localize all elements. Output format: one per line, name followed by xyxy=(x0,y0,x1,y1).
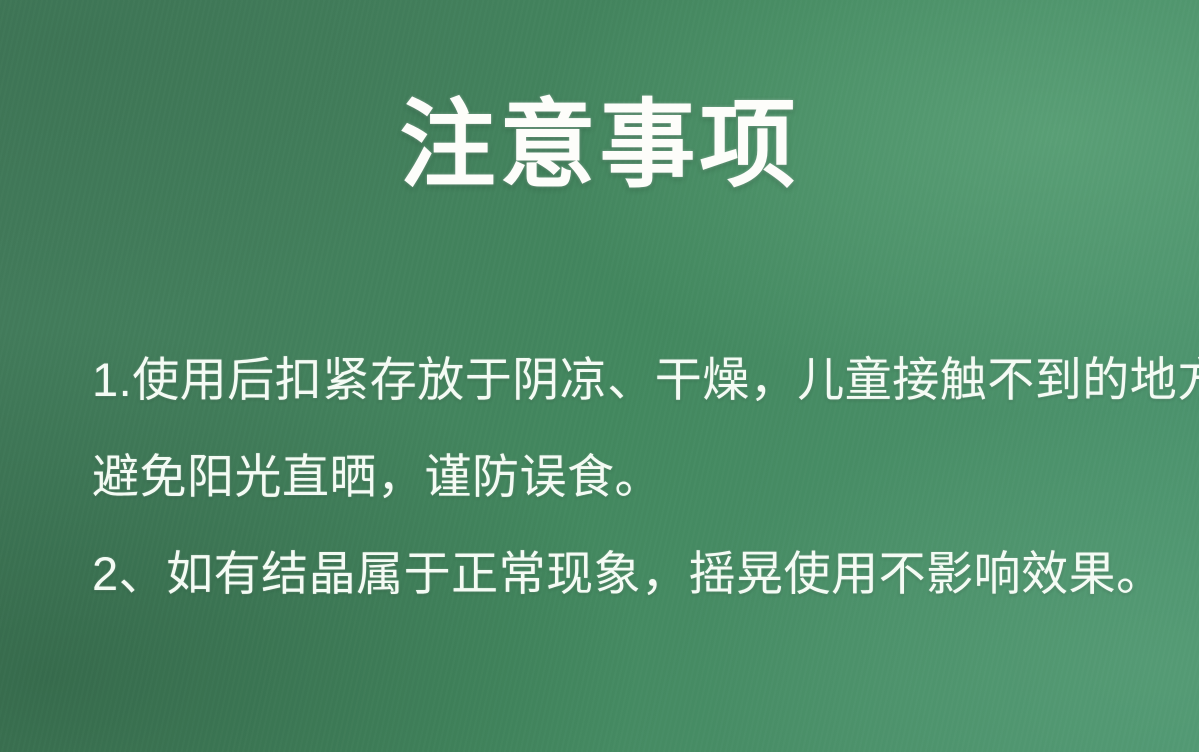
notice-list: 1.使用后扣紧存放于阴凉、干燥，儿童接触不到的地方， 避免阳光直晒，谨防误食。 … xyxy=(92,331,1173,622)
notice-line-1: 1.使用后扣紧存放于阴凉、干燥，儿童接触不到的地方， xyxy=(92,331,1173,428)
notice-poster: 注意事项 1.使用后扣紧存放于阴凉、干燥，儿童接触不到的地方， 避免阳光直晒，谨… xyxy=(0,0,1199,752)
page-title: 注意事项 xyxy=(0,96,1199,197)
notice-line-3: 2、如有结晶属于正常现象，摇晃使用不影响效果。 xyxy=(92,525,1173,622)
notice-line-2: 避免阳光直晒，谨防误食。 xyxy=(92,428,1173,525)
